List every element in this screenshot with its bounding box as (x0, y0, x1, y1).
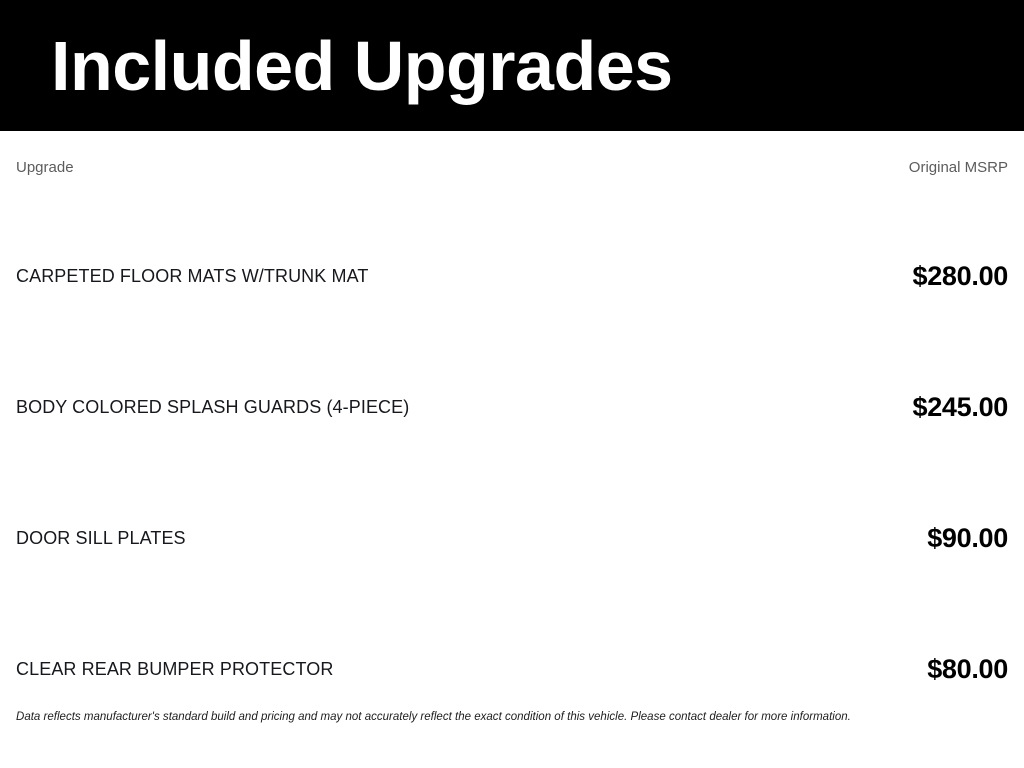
upgrade-name: CLEAR REAR BUMPER PROTECTOR (16, 658, 333, 684)
upgrade-price: $245.00 (913, 392, 1009, 422)
disclaimer-text: Data reflects manufacturer's standard bu… (16, 710, 1008, 725)
upgrade-price: $90.00 (927, 523, 1008, 553)
upgrade-price: $280.00 (913, 261, 1009, 291)
table-row: CARPETED FLOOR MATS W/TRUNK MAT $280.00 (16, 177, 1008, 291)
included-upgrades-page: Included Upgrades Upgrade Original MSRP … (0, 0, 1024, 768)
page-header-band: Included Upgrades (0, 0, 1024, 131)
table-row: BODY COLORED SPLASH GUARDS (4-PIECE) $24… (16, 291, 1008, 422)
upgrades-row-list: CARPETED FLOOR MATS W/TRUNK MAT $280.00 … (16, 177, 1008, 684)
column-header-original-msrp: Original MSRP (909, 159, 1008, 177)
upgrade-name: DOOR SILL PLATES (16, 527, 186, 553)
column-header-upgrade: Upgrade (16, 159, 74, 177)
table-row: DOOR SILL PLATES $90.00 (16, 422, 1008, 553)
upgrade-name: BODY COLORED SPLASH GUARDS (4-PIECE) (16, 396, 409, 422)
table-row: CLEAR REAR BUMPER PROTECTOR $80.00 (16, 553, 1008, 684)
table-column-headers: Upgrade Original MSRP (16, 131, 1008, 177)
upgrade-price: $80.00 (927, 654, 1008, 684)
upgrades-table: Upgrade Original MSRP CARPETED FLOOR MAT… (0, 131, 1024, 768)
page-title: Included Upgrades (0, 31, 673, 101)
upgrade-name: CARPETED FLOOR MATS W/TRUNK MAT (16, 265, 368, 291)
